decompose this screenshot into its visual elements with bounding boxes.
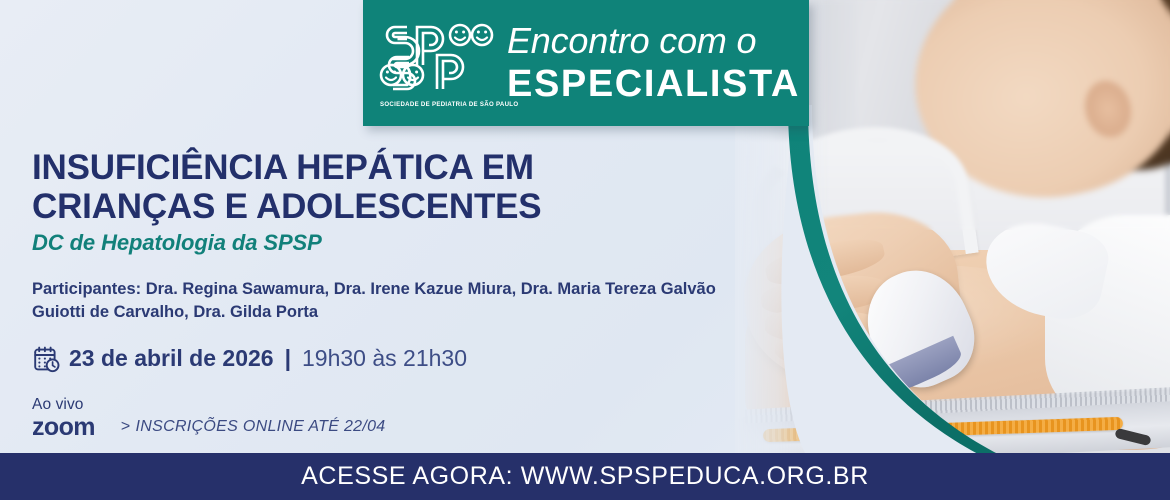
event-date: 23 de abril de 2026 [69,345,274,372]
banner-title-line1: Encontro com o [507,23,800,59]
event-time: 19h30 às 21h30 [302,345,467,372]
title-line-1: INSUFICIÊNCIA HEPÁTICA EM [32,148,792,187]
page-title: INSUFICIÊNCIA HEPÁTICA EM CRIANÇAS E ADO… [32,148,792,226]
footer-cta-text[interactable]: ACESSE AGORA: WWW.SPSPEDUCA.ORG.BR [301,462,869,491]
participants-text: Participantes: Dra. Regina Sawamura, Dra… [32,278,772,323]
event-header-banner: SOCIEDADE DE PEDIATRIA DE SÃO PAULO Enco… [363,0,809,126]
chevron-right-icon: > [121,418,131,435]
live-platform-row: Ao vivo zoom >INSCRIÇÕES ONLINE ATÉ 22/0… [32,397,792,441]
spsp-logo-tagline: SOCIEDADE DE PEDIATRIA DE SÃO PAULO [380,101,494,108]
banner-title-line2: ESPECIALISTA [507,65,800,103]
registration-text: INSCRIÇÕES ONLINE ATÉ 22/04 [136,418,386,435]
title-line-2: CRIANÇAS E ADOLESCENTES [32,187,792,226]
zoom-wordmark: zoom [32,415,95,440]
zoom-logo-block: Ao vivo zoom [32,397,95,441]
event-details: INSUFICIÊNCIA HEPÁTICA EM CRIANÇAS E ADO… [32,148,792,440]
live-label: Ao vivo [32,397,95,413]
event-subtitle: DC de Hepatologia da SPSP [32,230,792,256]
spsp-logo: SOCIEDADE DE PEDIATRIA DE SÃO PAULO [377,17,495,109]
calendar-clock-icon [32,345,60,373]
footer-cta-bar[interactable]: ACESSE AGORA: WWW.SPSPEDUCA.ORG.BR [0,453,1170,500]
date-time-separator: | [285,345,291,372]
registration-note: >INSCRIÇÕES ONLINE ATÉ 22/04 [121,418,386,440]
date-time-row: 23 de abril de 2026 | 19h30 às 21h30 [32,345,792,373]
event-banner: SOCIEDADE DE PEDIATRIA DE SÃO PAULO Enco… [0,0,1170,500]
